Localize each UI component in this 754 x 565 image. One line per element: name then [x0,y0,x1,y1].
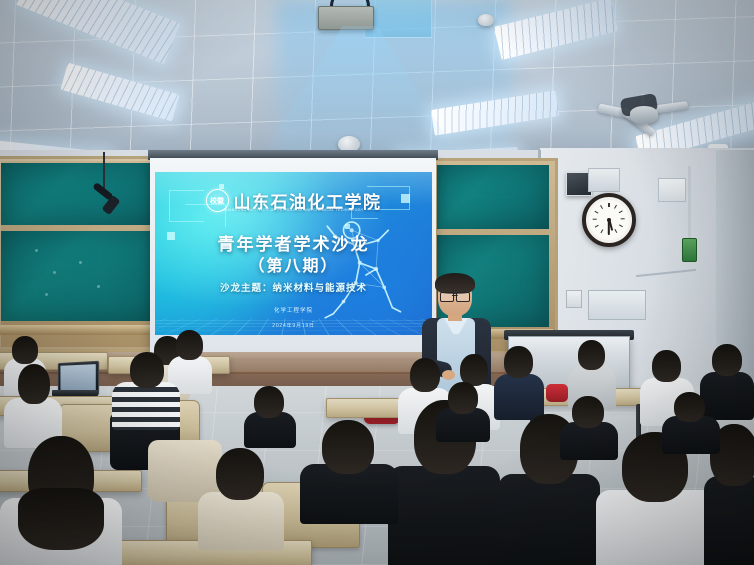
head [572,396,604,428]
audience-member [560,396,616,456]
head [504,346,533,378]
wall-clock [582,193,636,247]
presentation-slide: 校徽 山东石油化工学院 SHANDONG INSTITUTE OF PETROL… [155,172,432,335]
ceiling-fan-hub [630,106,658,124]
head [448,382,478,414]
crest-label: 校徽 [210,196,224,206]
slide-theme: 沙龙主题：纳米材料与能源技术 [155,280,432,294]
blackboard-panel-upper [1,163,161,225]
torso [498,474,600,565]
audience-member [244,386,294,444]
clock-center-pin [607,218,611,222]
head [712,344,742,376]
wall-switch[interactable] [566,290,582,308]
green-conduit-box [682,238,697,262]
audience-member [494,346,542,416]
long-hair-fall [18,488,104,550]
head [652,350,681,382]
slide-issue-number: （第八期） [155,252,432,276]
lecture-hall-photo: 校徽 山东石油化工学院 SHANDONG INSTITUTE OF PETROL… [0,0,754,565]
presenter-hair [435,273,475,294]
wall-signage-panel [588,290,646,320]
head [322,420,374,474]
head [12,336,38,364]
institution-name-en: SHANDONG INSTITUTE OF PETROLEUM AND CHEM… [155,208,432,212]
audience-member-foreground [0,436,120,565]
audience-member [436,382,488,438]
head [578,340,605,370]
wall-conduit [688,166,691,238]
audience-member [300,420,396,520]
head [130,352,164,388]
torso [704,476,754,565]
audience-member [662,392,718,450]
audience-member [112,352,178,426]
torso [198,492,284,550]
slide-department: 化学工程学院 [155,306,432,314]
head [176,330,203,360]
audience-member [4,364,60,444]
head [674,392,705,422]
torso [388,466,500,565]
clock-minute-hand [608,220,610,235]
chalk-tray [0,325,165,335]
audience-member [198,448,282,548]
blackboard-panel-lower [1,231,161,321]
microphone-cable [103,152,105,192]
clock-face [589,200,629,240]
wall-mounted-panel [588,168,620,192]
electrical-junction-box [658,178,686,202]
head-long-hair [18,364,50,404]
head [254,386,284,418]
blackboard-panel-upper [437,165,549,229]
glasses-icon [440,292,470,300]
torso-striped [112,382,180,430]
blackboard-left [0,156,170,352]
smoke-detector-icon [478,14,494,26]
slide-date: 2024年9月19日 [155,322,432,329]
head [216,448,264,500]
